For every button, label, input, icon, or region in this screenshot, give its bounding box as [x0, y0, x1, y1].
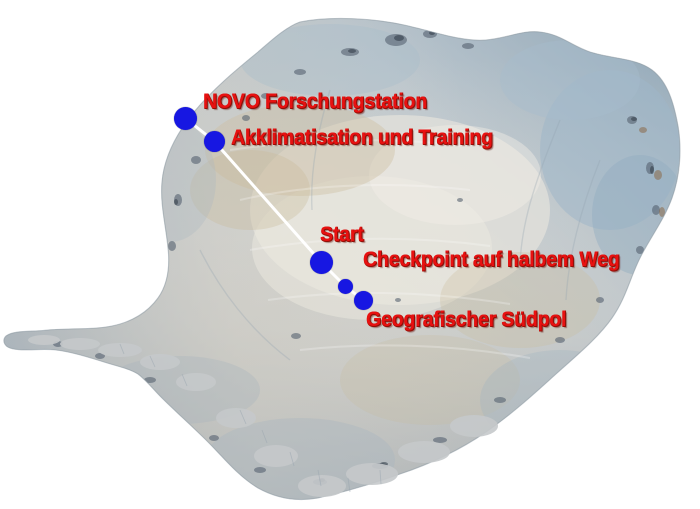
label-checkpoint: Checkpoint auf halbem Weg [363, 249, 620, 271]
label-novo-station: NOVO Forschungstation [203, 91, 427, 113]
marker-start[interactable] [310, 251, 333, 274]
label-south-pole: Geografischer Südpol [366, 309, 566, 331]
marker-acclimatization[interactable] [204, 131, 225, 152]
antarctica-route-map: NOVO Forschungstation Akklimatisation un… [0, 0, 700, 509]
marker-south-pole[interactable] [354, 291, 373, 310]
marker-checkpoint[interactable] [338, 279, 353, 294]
label-acclimatization: Akklimatisation und Training [231, 127, 493, 149]
marker-novo-station[interactable] [174, 107, 197, 130]
label-start: Start [320, 224, 364, 246]
